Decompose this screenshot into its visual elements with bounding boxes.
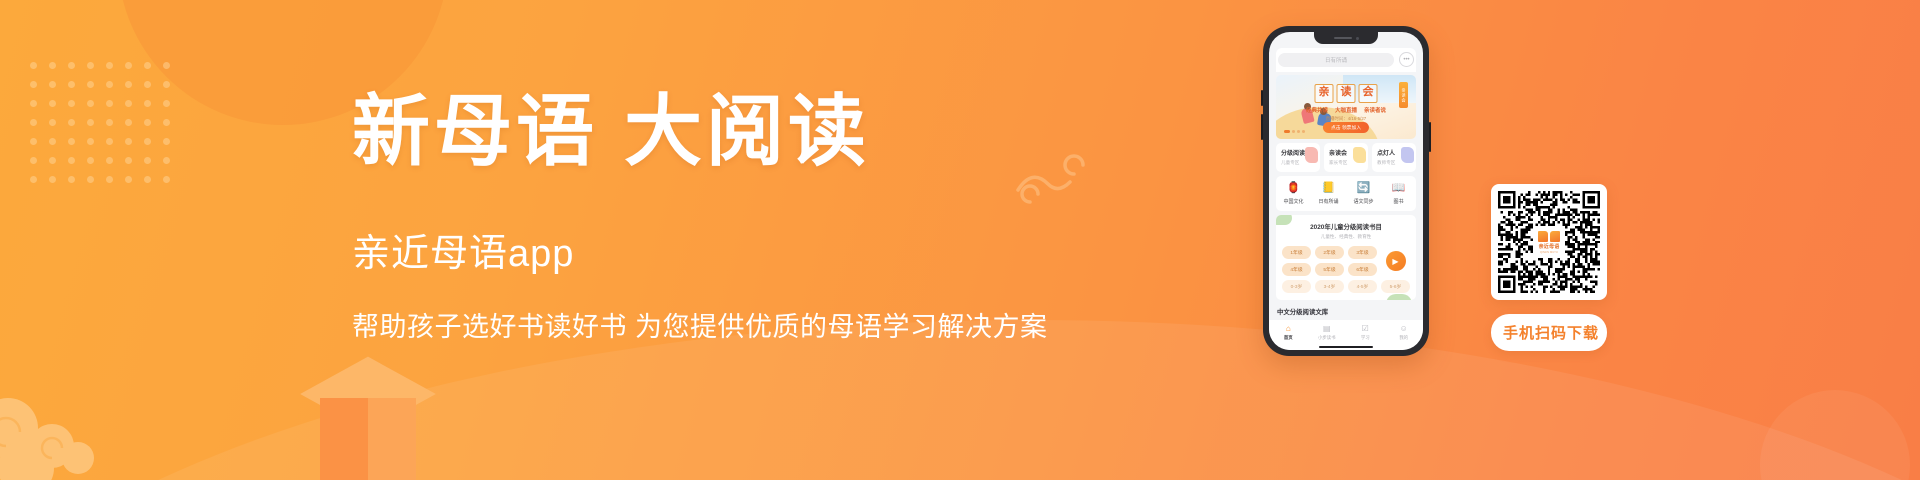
grade-chip[interactable]: 2年级: [1315, 246, 1344, 259]
promo-subtitle: 亲读者说: [1364, 106, 1386, 114]
decor-dot: [87, 138, 94, 145]
quick-icon-label: 中国文化: [1283, 198, 1303, 205]
library-section-title: 中文分级阅读文库: [1276, 307, 1416, 316]
grade-chip-grid: 1年级2年级3年级▶4年级5年级6年级0-3岁3-4岁4-5岁5-6岁: [1282, 246, 1410, 293]
decor-dot: [30, 100, 37, 107]
decor-dot: [68, 62, 75, 69]
decor-dot: [106, 138, 113, 145]
carousel-dots[interactable]: [1284, 130, 1305, 133]
reading-icon: ▤: [1323, 325, 1331, 333]
page-title: 新母语大阅读: [352, 90, 1032, 174]
tabbar-label: 小步读书: [1318, 335, 1336, 341]
category-cards: 分级阅读儿童专区亲读会家长专区点灯人教师专区: [1276, 143, 1416, 172]
grade-chip[interactable]: 6年级: [1348, 263, 1377, 276]
decor-dot: [106, 81, 113, 88]
notebook-icon: 📒: [1322, 183, 1336, 194]
decor-dot: [68, 138, 75, 145]
quick-icon-item[interactable]: 🏮中国文化: [1276, 183, 1311, 205]
home-icon: ⌂: [1286, 325, 1291, 333]
promo-cta-button[interactable]: 点击 领票加入: [1323, 122, 1369, 133]
category-card-art: [1305, 147, 1318, 163]
promo-banner: 新母语大阅读 亲近母语app 帮助孩子选好书读好书 为您提供优质的母语学习解决方…: [0, 0, 1920, 480]
promo-title-char: 读: [1337, 84, 1356, 103]
decor-cloud-icon: [0, 388, 116, 480]
play-video-icon[interactable]: ▶: [1386, 251, 1406, 271]
decor-dot: [49, 176, 56, 183]
camera-icon: [1356, 37, 1359, 40]
tabbar-label: 我的: [1399, 335, 1408, 341]
category-card-art: [1353, 147, 1366, 163]
decor-dot: [144, 81, 151, 88]
booklist-subtitle: 儿童性、经典性、教育性: [1282, 234, 1410, 240]
app-home-screen: 日有所诵 ••• 亲读会 亲读会 经典共读大咖直播亲读者说 直播时间：4/16-…: [1269, 32, 1423, 350]
age-chip[interactable]: 5-6岁: [1381, 280, 1410, 293]
decor-dot: [106, 62, 113, 69]
app-searchbar: 日有所诵 •••: [1276, 48, 1416, 72]
grade-chip[interactable]: 1年级: [1282, 246, 1311, 259]
ellipsis-icon[interactable]: •••: [1399, 52, 1414, 67]
tabbar-item[interactable]: ☺我的: [1385, 325, 1424, 341]
grade-chip[interactable]: 4年级: [1282, 263, 1311, 276]
qr-code[interactable]: 亲近母语 QINJIN MUYU: [1491, 184, 1607, 300]
decor-dot: [87, 62, 94, 69]
decor-dot: [49, 62, 56, 69]
quick-icon-label: 语文同步: [1353, 198, 1373, 205]
decor-dot: [49, 157, 56, 164]
category-card[interactable]: 分级阅读儿童专区: [1276, 143, 1320, 172]
brand-logo-icon: 亲近母语 QINJIN MUYU: [1533, 227, 1565, 257]
lantern-icon: 🏮: [1287, 183, 1301, 194]
decor-dot: [68, 157, 75, 164]
decor-dot: [30, 81, 37, 88]
decor-dot: [30, 176, 37, 183]
phone-notch: [1314, 32, 1378, 44]
quick-icon-item[interactable]: 🔄语文同步: [1346, 183, 1381, 205]
decor-dot: [68, 176, 75, 183]
decor-dot: [68, 81, 75, 88]
decor-cube: [300, 360, 436, 480]
decor-dot: [144, 62, 151, 69]
decor-dot: [163, 176, 170, 183]
decor-dot: [87, 100, 94, 107]
home-indicator: [1319, 346, 1373, 349]
decor-dot-grid: [30, 62, 182, 195]
phone-power-button: [1429, 122, 1431, 152]
promo-ribbon: 亲读会: [1399, 82, 1408, 108]
sync-icon: 🔄: [1357, 183, 1371, 194]
category-card[interactable]: 点灯人教师专区: [1372, 143, 1416, 172]
age-chip[interactable]: 3-4岁: [1315, 280, 1344, 293]
decor-dot: [49, 81, 56, 88]
headline-part-2: 大阅读: [624, 88, 870, 175]
decor-dot: [125, 157, 132, 164]
tabbar-item[interactable]: ☑学习: [1346, 325, 1385, 341]
promo-subtitles: 经典共读大咖直播亲读者说: [1306, 106, 1386, 114]
leaf-decor-icon: [1386, 294, 1412, 300]
tabbar-label: 学习: [1361, 335, 1370, 341]
booklist-title: 2020年儿童分级阅读书目: [1282, 222, 1410, 231]
speaker-icon: [1334, 37, 1352, 39]
promo-subtitle: 大咖直播: [1335, 106, 1357, 114]
tabbar-item[interactable]: ⌂首页: [1269, 325, 1308, 341]
open-book-icon: [1538, 231, 1560, 242]
quick-icons-row: 🏮中国文化📒日有所诵🔄语文同步📖图书: [1276, 176, 1416, 211]
decor-dot: [125, 62, 132, 69]
decor-dot: [68, 100, 75, 107]
quick-icon-item[interactable]: 📖图书: [1381, 183, 1416, 205]
decor-dot: [144, 176, 151, 183]
promo-card[interactable]: 亲读会 亲读会 经典共读大咖直播亲读者说 直播时间：4/16-5/27 点击 领…: [1276, 75, 1416, 139]
promo-title-char: 会: [1359, 84, 1378, 103]
brand-name: 亲近母语: [1539, 243, 1560, 250]
brand-name-en: QINJIN MUYU: [1540, 251, 1558, 254]
promo-title: 亲读会: [1315, 84, 1378, 103]
decor-dot: [106, 157, 113, 164]
grade-chip[interactable]: 3年级: [1348, 246, 1377, 259]
decor-dot: [106, 176, 113, 183]
decor-dot: [87, 81, 94, 88]
quick-icon-label: 日有所诵: [1318, 198, 1338, 205]
decor-dot: [49, 119, 56, 126]
decor-dot: [163, 119, 170, 126]
promo-subtitle: 经典共读: [1306, 106, 1328, 114]
tabbar-item[interactable]: ▤小步读书: [1308, 325, 1347, 341]
decor-dot: [106, 119, 113, 126]
decor-dot: [106, 100, 113, 107]
decor-dot: [144, 138, 151, 145]
tabbar-label: 首页: [1284, 335, 1293, 341]
decor-dot: [163, 157, 170, 164]
headline-part-1: 新母语: [352, 88, 598, 175]
download-button[interactable]: 手机扫码下载: [1491, 314, 1607, 351]
decor-dot: [163, 100, 170, 107]
decor-dot: [125, 119, 132, 126]
promo-title-char: 亲: [1315, 84, 1334, 103]
quick-icon-label: 图书: [1393, 198, 1403, 205]
qr-download-block: 亲近母语 QINJIN MUYU 手机扫码下载: [1491, 184, 1607, 351]
search-input[interactable]: 日有所诵: [1278, 53, 1394, 67]
age-chip[interactable]: 4-5岁: [1348, 280, 1377, 293]
phone-mute-button: [1261, 90, 1263, 106]
decor-dot: [144, 119, 151, 126]
book-icon: 📖: [1392, 183, 1406, 194]
decor-dot: [30, 157, 37, 164]
category-card[interactable]: 亲读会家长专区: [1324, 143, 1368, 172]
decor-swirl-right: [1760, 390, 1910, 480]
decor-dot: [87, 176, 94, 183]
decor-dot: [163, 138, 170, 145]
decor-dot: [163, 62, 170, 69]
decor-dot: [125, 176, 132, 183]
decor-dot: [144, 157, 151, 164]
decor-dot: [49, 138, 56, 145]
age-chip[interactable]: 0-3岁: [1282, 280, 1311, 293]
phone-screen: 日有所诵 ••• 亲读会 亲读会 经典共读大咖直播亲读者说 直播时间：4/16-…: [1269, 32, 1423, 350]
decor-dot: [125, 100, 132, 107]
decor-dot: [87, 157, 94, 164]
decor-dot: [163, 81, 170, 88]
decor-dot: [30, 119, 37, 126]
category-card-art: [1401, 147, 1414, 163]
profile-icon: ☺: [1400, 325, 1408, 333]
quick-icon-item[interactable]: 📒日有所诵: [1311, 183, 1346, 205]
booklist-card[interactable]: 2020年儿童分级阅读书目 儿童性、经典性、教育性 1年级2年级3年级▶4年级5…: [1276, 215, 1416, 300]
decor-dot: [30, 62, 37, 69]
decor-dot: [125, 81, 132, 88]
grade-chip[interactable]: 5年级: [1315, 263, 1344, 276]
tagline: 帮助孩子选好书读好书 为您提供优质的母语学习解决方案: [352, 305, 1032, 344]
decor-dot: [49, 100, 56, 107]
phone-mockup: 日有所诵 ••• 亲读会 亲读会 经典共读大咖直播亲读者说 直播时间：4/16-…: [1263, 26, 1429, 356]
decor-dot: [30, 138, 37, 145]
banner-copy: 新母语大阅读 亲近母语app 帮助孩子选好书读好书 为您提供优质的母语学习解决方…: [352, 90, 1032, 344]
decor-dot: [125, 138, 132, 145]
study-icon: ☑: [1362, 325, 1369, 333]
app-name: 亲近母语app: [352, 222, 1032, 277]
decor-dot: [87, 119, 94, 126]
decor-dot: [144, 100, 151, 107]
decor-dot: [68, 119, 75, 126]
phone-volume-button: [1261, 114, 1263, 140]
